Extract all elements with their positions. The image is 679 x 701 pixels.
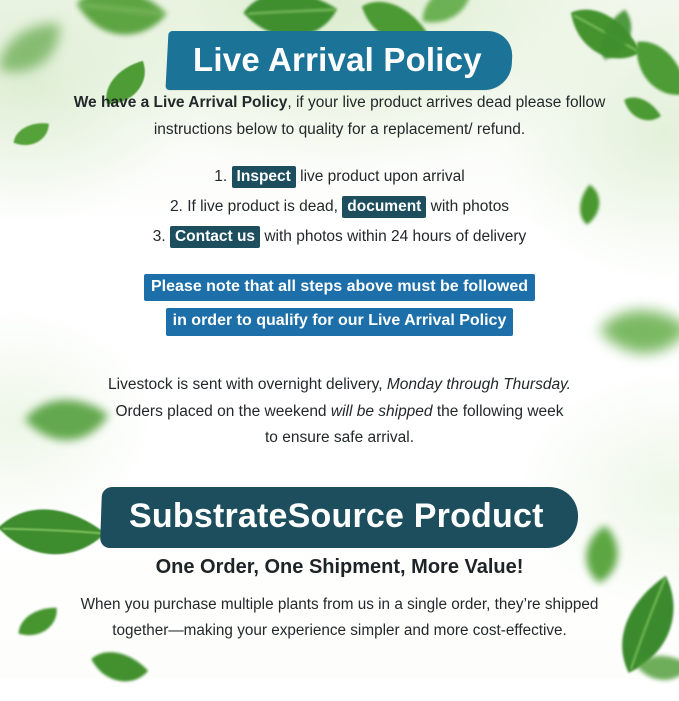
shipping-line2-tail: the following week: [433, 403, 564, 420]
primary-banner-title: Live Arrival Policy: [193, 43, 482, 76]
intro-paragraph: We have a Live Arrival Policy, if your l…: [0, 90, 679, 143]
step-after: live product upon arrival: [296, 168, 465, 185]
list-item: 2. If live product is dead, document wit…: [0, 196, 679, 218]
list-item: 3. Contact us with photos within 24 hour…: [0, 226, 679, 248]
primary-banner-row: Live Arrival Policy: [0, 31, 679, 90]
value-headline: One Order, One Shipment, More Value!: [0, 556, 679, 579]
policy-note: Please note that all steps above must be…: [0, 274, 679, 343]
step-before: If live product is dead,: [187, 198, 338, 215]
step-highlight: document: [342, 196, 426, 218]
intro-lead: We have a Live Arrival Policy: [74, 94, 288, 111]
step-number: 3.: [153, 228, 166, 245]
note-line-1: Please note that all steps above must be…: [144, 274, 535, 301]
value-line-2: together—making your experience simpler …: [112, 622, 567, 639]
shipping-line2-italic: will be shipped: [331, 403, 433, 420]
step-highlight: Inspect: [232, 166, 296, 188]
secondary-banner-title: SubstrateSource Product: [129, 499, 544, 533]
shipping-line1-italic: Monday through Thursday.: [387, 376, 571, 393]
note-line-2-row: in order to qualify for our Live Arrival…: [0, 308, 679, 335]
shipping-paragraph: Livestock is sent with overnight deliver…: [0, 372, 679, 452]
value-line-1: When you purchase multiple plants from u…: [81, 596, 599, 613]
live-arrival-policy-page: Live Arrival Policy We have a Live Arriv…: [0, 0, 679, 679]
steps-list: 1. Inspect live product upon arrival 2. …: [0, 166, 679, 248]
primary-banner: Live Arrival Policy: [166, 31, 514, 90]
secondary-banner: SubstrateSource Product: [100, 487, 579, 548]
shipping-line1-plain: Livestock is sent with overnight deliver…: [108, 376, 387, 393]
steps-section: 1. Inspect live product upon arrival 2. …: [0, 166, 679, 256]
step-number: 1.: [214, 168, 227, 185]
shipping-line2-plain: Orders placed on the weekend: [115, 403, 330, 420]
value-paragraph: When you purchase multiple plants from u…: [0, 592, 679, 645]
shipping-line3: to ensure safe arrival.: [265, 429, 414, 446]
note-line-1-row: Please note that all steps above must be…: [0, 274, 679, 301]
step-number: 2.: [170, 198, 183, 215]
list-item: 1. Inspect live product upon arrival: [0, 166, 679, 188]
step-after: with photos within 24 hours of delivery: [260, 228, 526, 245]
secondary-banner-row: SubstrateSource Product: [0, 487, 679, 548]
step-highlight: Contact us: [170, 226, 260, 248]
note-line-2: in order to qualify for our Live Arrival…: [166, 308, 514, 335]
step-after: with photos: [426, 198, 509, 215]
